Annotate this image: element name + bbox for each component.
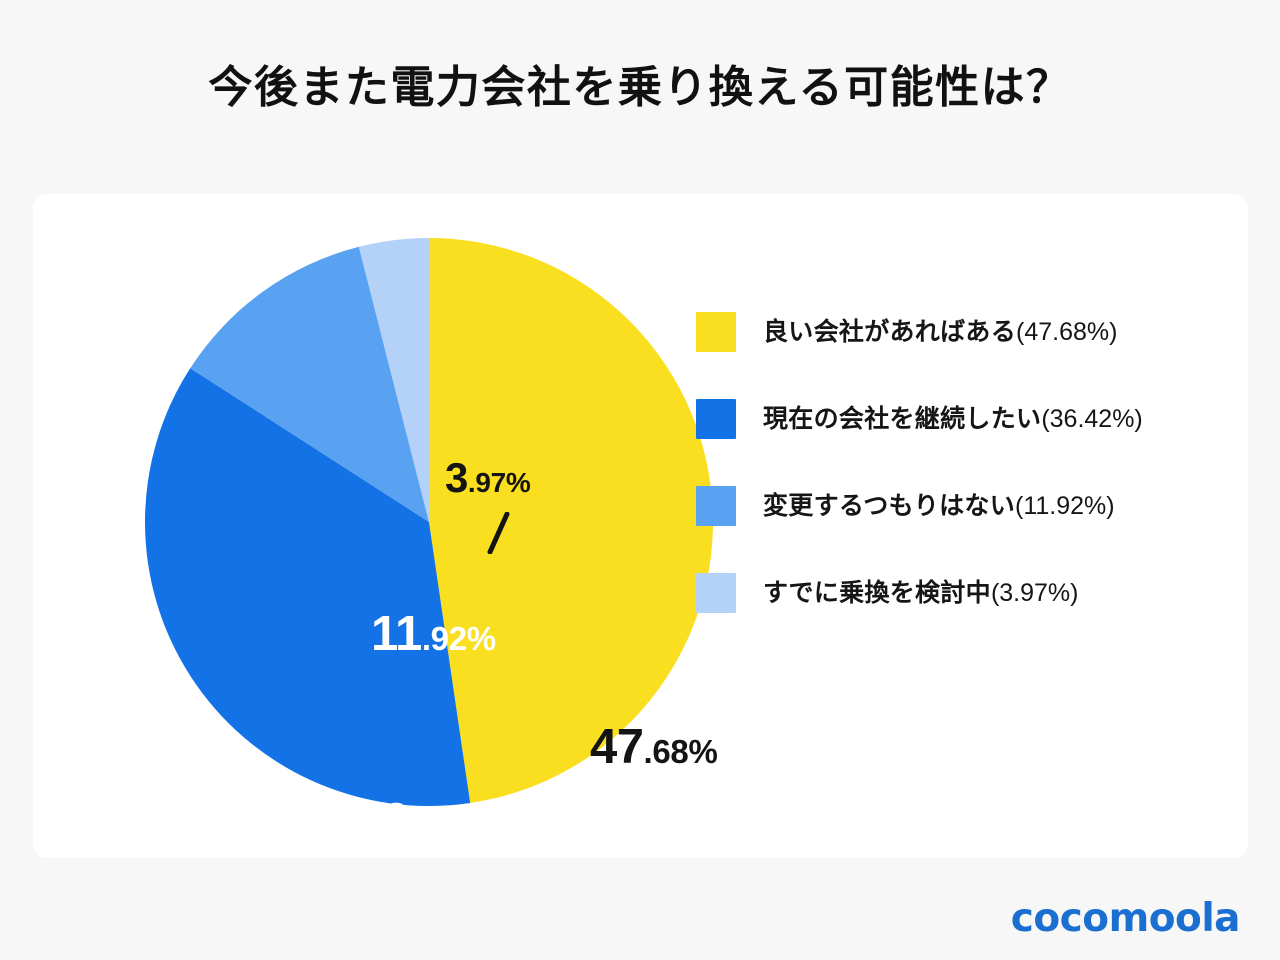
legend-category: 変更するつもりはない	[763, 492, 1015, 520]
legend-item[interactable]: 変更するつもりはない(11.92%)	[696, 486, 1216, 526]
legend-swatch-icon	[696, 486, 736, 526]
legend-category: 現在の会社を継続したい	[763, 405, 1041, 433]
legend-percent: (11.92%)	[1015, 492, 1115, 520]
slice-value-int: 36	[355, 797, 409, 846]
pie-slice[interactable]	[429, 238, 713, 803]
slice-value-int: 3	[445, 457, 468, 499]
slice-value-dec: .68%	[644, 735, 718, 768]
legend-percent: (36.42%)	[1041, 405, 1142, 433]
legend-item[interactable]: すでに乗換を検討中(3.97%)	[696, 573, 1216, 613]
legend-percent: (3.97%)	[991, 579, 1079, 607]
slice-value-dec: .42%	[409, 809, 483, 842]
cocomoola-logo: cocomoola	[1011, 899, 1240, 938]
slice-label-light-blue: 11 .92%	[371, 610, 496, 659]
leader-line-icon	[484, 512, 514, 554]
chart-legend: 良い会社があればある(47.68%) 現在の会社を継続したい(36.42%) 変…	[696, 312, 1216, 613]
slice-label-pale-blue: 3 .97%	[445, 457, 530, 499]
slice-label-yellow: 47 .68%	[590, 723, 718, 772]
slice-value-dec: .97%	[468, 469, 531, 497]
legend-swatch-icon	[696, 312, 736, 352]
page-title: 今後また電力会社を乗り換える可能性は？	[0, 62, 1280, 115]
legend-item[interactable]: 良い会社があればある(47.68%)	[696, 312, 1216, 352]
legend-swatch-icon	[696, 573, 736, 613]
legend-category: 良い会社があればある	[763, 318, 1016, 346]
legend-label: 現在の会社を継続したい(36.42%)	[763, 407, 1143, 432]
legend-item[interactable]: 現在の会社を継続したい(36.42%)	[696, 399, 1216, 439]
slice-value-int: 47	[590, 723, 644, 772]
legend-swatch-icon	[696, 399, 736, 439]
legend-category: すでに乗換を検討中	[763, 579, 991, 607]
legend-label: 良い会社があればある(47.68%)	[763, 320, 1117, 345]
legend-percent: (47.68%)	[1016, 318, 1117, 346]
slice-value-dec: .92%	[422, 622, 496, 655]
slice-label-blue: 36 .42%	[355, 797, 483, 846]
legend-label: すでに乗換を検討中(3.97%)	[763, 581, 1079, 606]
pie-chart: 47 .68% 36 .42% 11 .92% 3 .97%	[143, 236, 715, 808]
slice-value-int: 11	[371, 610, 422, 659]
legend-label: 変更するつもりはない(11.92%)	[763, 494, 1115, 519]
chart-card: 47 .68% 36 .42% 11 .92% 3 .97% 良い会社があればあ…	[33, 194, 1248, 858]
